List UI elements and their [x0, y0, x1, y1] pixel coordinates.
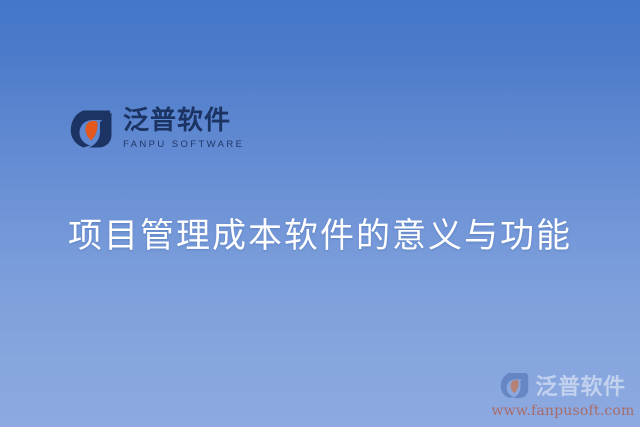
watermark-name-cn: 泛普软件	[535, 369, 625, 401]
watermark: 泛普软件 www.fanpusoft.com	[494, 369, 632, 419]
brand-name-en: FANPU SOFTWARE	[123, 140, 244, 150]
brand-wordmark: 泛普软件 FANPU SOFTWARE	[123, 108, 244, 150]
brand-logo: 泛普软件 FANPU SOFTWARE	[70, 108, 244, 150]
brand-name-cn: 泛普软件	[123, 108, 244, 134]
fanpu-logo-mark-icon	[500, 372, 530, 399]
slide-canvas: 泛普软件 FANPU SOFTWARE 项目管理成本软件的意义与功能 泛普软件 …	[0, 0, 640, 427]
fanpu-logo-mark-icon	[70, 109, 114, 149]
slide-title: 项目管理成本软件的意义与功能	[0, 208, 640, 257]
watermark-lockup: 泛普软件	[500, 369, 625, 401]
watermark-url: www.fanpusoft.com	[491, 403, 634, 419]
